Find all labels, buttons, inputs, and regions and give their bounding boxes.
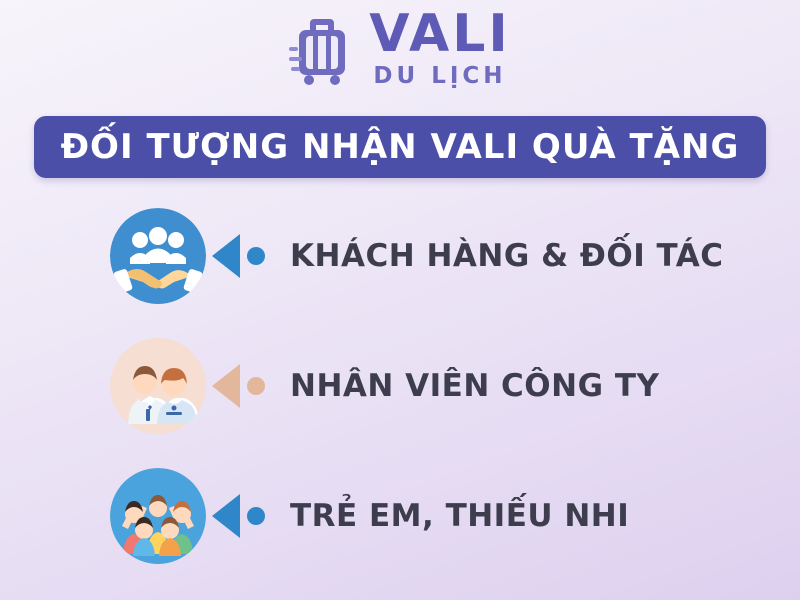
list-item: NHÂN VIÊN CÔNG TY — [110, 338, 770, 434]
suitcase-icon — [289, 9, 355, 87]
list-item-label: NHÂN VIÊN CÔNG TY — [290, 368, 659, 404]
logo-sub-text: DU LỊCH — [373, 65, 506, 88]
arrow-left-icon — [210, 226, 272, 286]
list-item: TRẺ EM, THIẾU NHI — [110, 468, 770, 564]
list-item-label: TRẺ EM, THIẾU NHI — [290, 498, 629, 534]
poster-canvas: VALI DU LỊCH ĐỐI TƯỢNG NHẬN VALI QUÀ TẶN… — [0, 0, 800, 600]
arrow-left-icon — [210, 356, 272, 416]
list-item: KHÁCH HÀNG & ĐỐI TÁC — [110, 208, 770, 304]
brand-logo: VALI DU LỊCH — [0, 8, 800, 88]
page-title: ĐỐI TƯỢNG NHẬN VALI QUÀ TẶNG — [61, 127, 740, 167]
arrow-left-icon — [210, 486, 272, 546]
two-employees-icon — [110, 338, 206, 434]
logo-main-text: VALI — [369, 8, 510, 60]
logo-wordmark: VALI DU LỊCH — [369, 8, 510, 88]
handshake-people-icon — [110, 208, 206, 304]
title-banner: ĐỐI TƯỢNG NHẬN VALI QUÀ TẶNG — [34, 116, 766, 178]
list-item-label: KHÁCH HÀNG & ĐỐI TÁC — [290, 238, 724, 274]
children-group-icon — [110, 468, 206, 564]
